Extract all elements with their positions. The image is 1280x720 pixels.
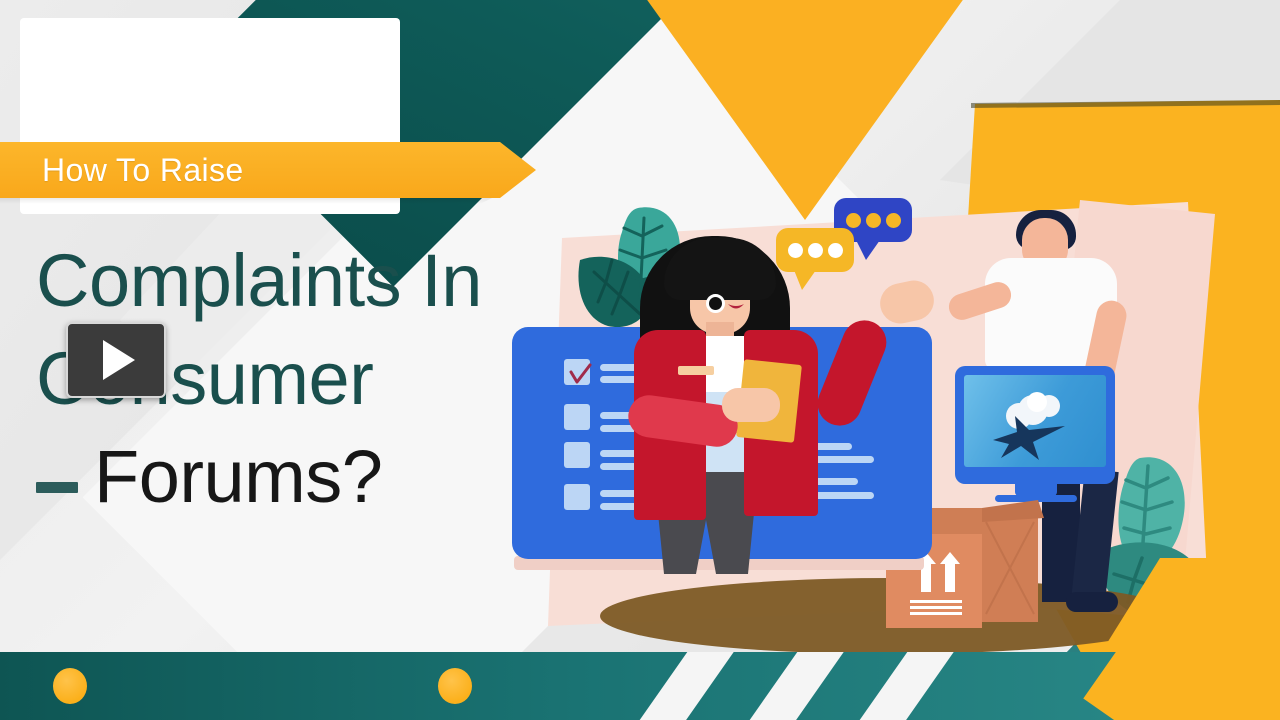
woman-mouth-icon	[726, 302, 746, 314]
monitor-crack-icon	[975, 392, 1085, 464]
play-icon	[103, 340, 135, 380]
ribbon-label: How To Raise	[42, 152, 244, 189]
bottom-bar-stripe	[730, 652, 847, 720]
woman-earring	[706, 294, 725, 313]
man-shoe	[1066, 592, 1118, 612]
bottom-bar-dot	[438, 668, 472, 704]
woman-hand-left	[722, 388, 780, 422]
title-line-3: Forums?	[36, 428, 596, 526]
box-side-seam-icon	[984, 520, 1036, 616]
title-dash-icon	[36, 482, 78, 493]
speech-bubble-yellow-dot	[828, 243, 843, 258]
bottom-bar-dot	[53, 668, 87, 704]
speech-bubble-yellow-dot	[808, 243, 823, 258]
speech-bubble-blue-tail	[856, 240, 880, 260]
title-line-1: Complaints In	[36, 232, 596, 330]
ribbon-banner: How To Raise	[0, 142, 536, 198]
speech-bubble-blue-dot	[886, 213, 901, 228]
bottom-bar-yellow-wedge	[1083, 652, 1280, 720]
speech-bubble-yellow-tail	[794, 270, 816, 290]
bottom-bar-stripe	[620, 652, 737, 720]
play-button[interactable]	[66, 322, 166, 398]
woman-hair-front	[664, 238, 776, 300]
bottom-bar	[0, 652, 1280, 720]
speech-bubble-blue-dot	[866, 213, 881, 228]
title-line-3-text: Forums?	[94, 428, 382, 526]
woman-name-badge	[678, 366, 714, 375]
bottom-bar-stripe	[840, 652, 957, 720]
slide-canvas: How To Raise Complaints In Consumer Foru…	[0, 0, 1280, 720]
speech-bubble-blue-dot	[846, 213, 861, 228]
speech-bubble-yellow-dot	[788, 243, 803, 258]
